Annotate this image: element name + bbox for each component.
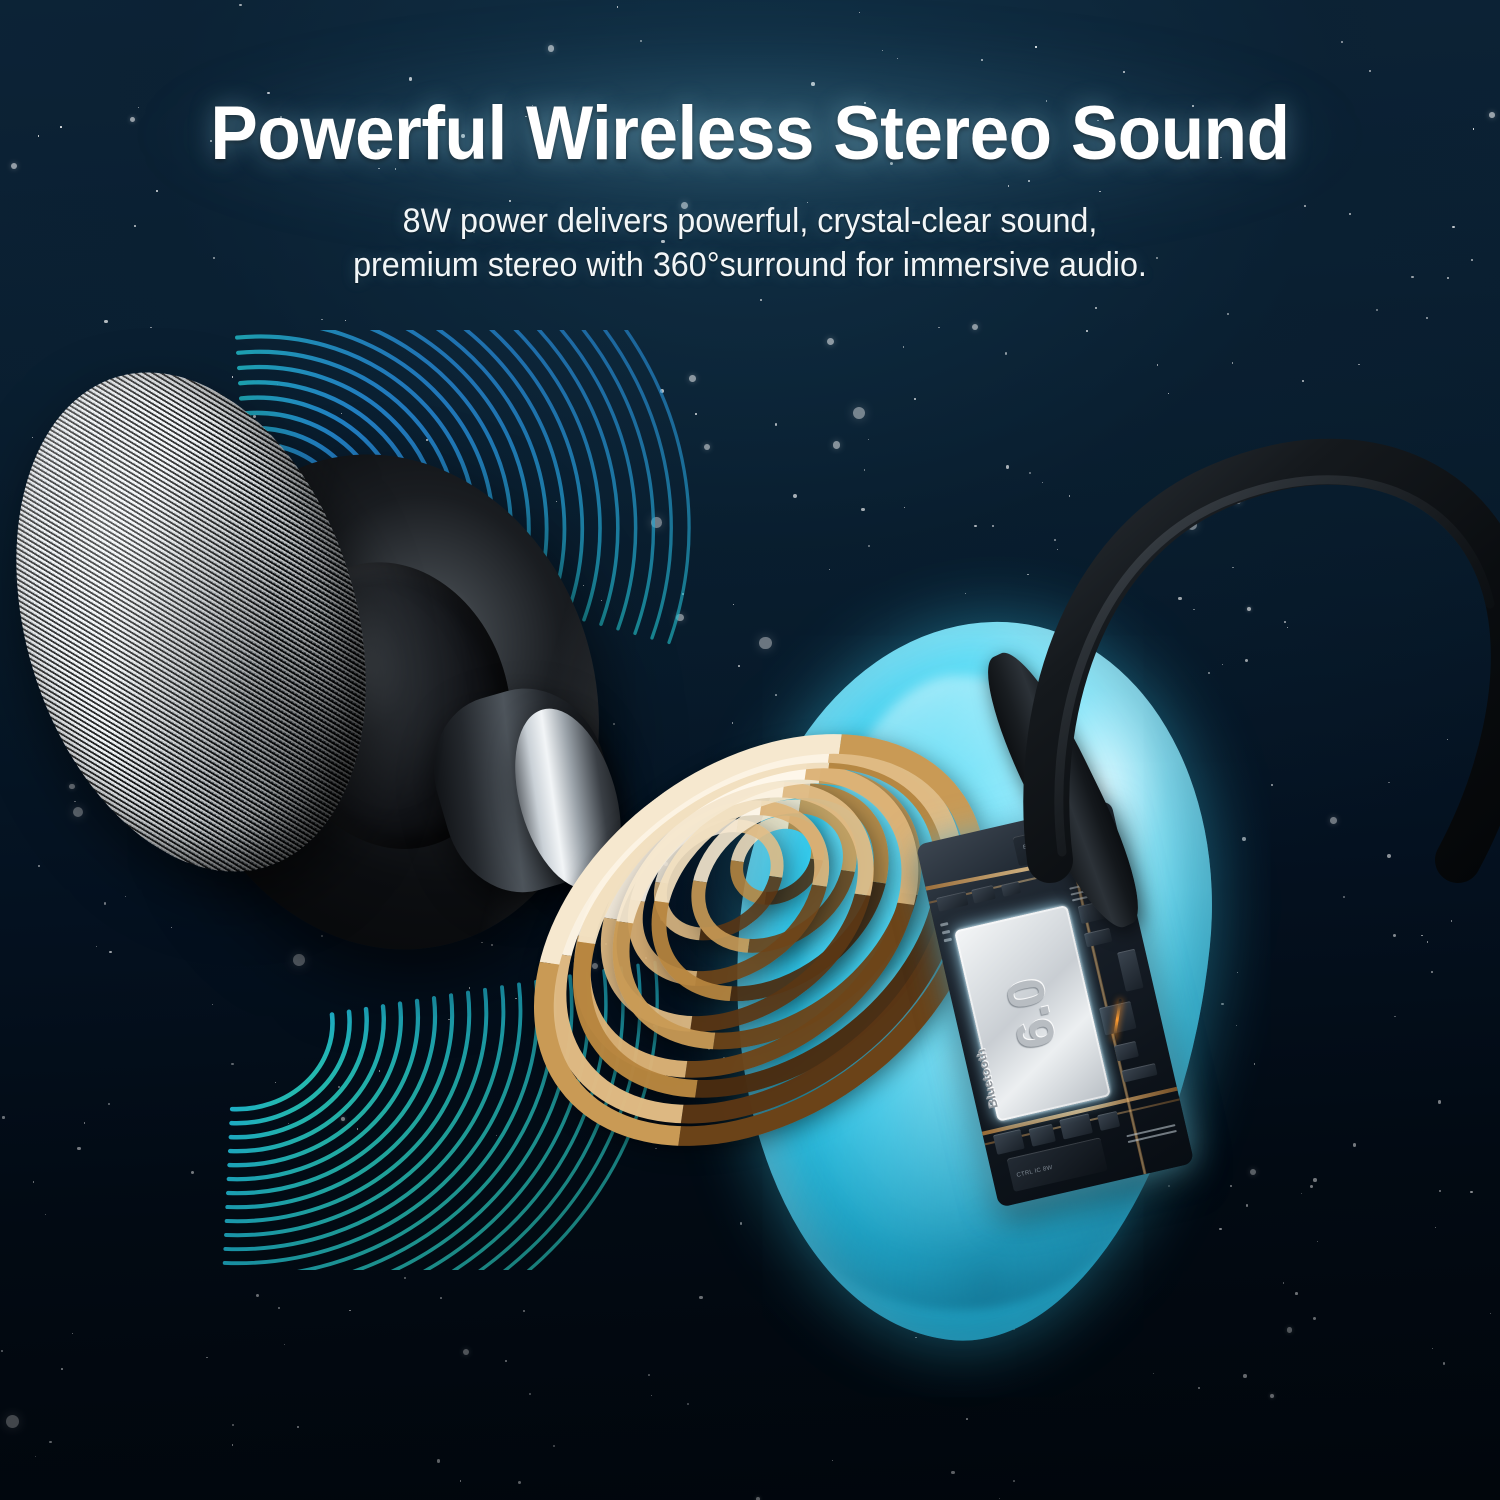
exploded-speaker-illustration: BT6.0 MODULE CTRL IC 8W <box>0 0 1500 1500</box>
product-feature-banner: BT6.0 MODULE CTRL IC 8W <box>0 0 1500 1500</box>
chip-version-label: 6.0 <box>1002 974 1063 1052</box>
ear-hook <box>960 390 1500 910</box>
chip-bluetooth-label: Bluetooth <box>972 1048 1000 1110</box>
